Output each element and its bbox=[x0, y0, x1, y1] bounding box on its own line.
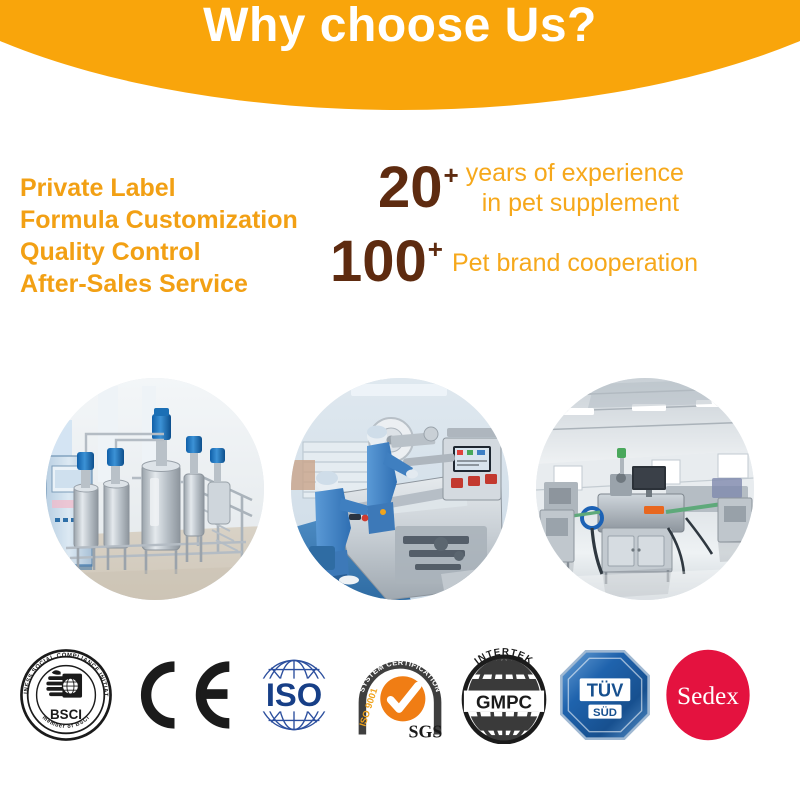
stat-caption: Pet brand cooperation bbox=[452, 248, 698, 278]
stat-number: 100 bbox=[330, 234, 427, 289]
why-choose-us-infographic: Why choose Us? Private Label Formula Cus… bbox=[0, 0, 800, 800]
stat-caption-line1: years of experience bbox=[466, 159, 684, 187]
stats-list: 20+ years of experience in pet supplemen… bbox=[330, 160, 800, 289]
cleanroom-workshop-photo bbox=[536, 378, 754, 600]
services-list: Private Label Formula Customization Qual… bbox=[20, 172, 370, 300]
tuv-sub-label: SÜD bbox=[593, 706, 617, 719]
service-item-quality-control: Quality Control bbox=[20, 236, 370, 268]
sgs-label: SGS bbox=[409, 721, 443, 741]
gmpc-label: GMPC bbox=[476, 691, 532, 712]
stat-plus-sign: + bbox=[428, 236, 443, 262]
stat-brand-cooperation: 100+ Pet brand cooperation bbox=[330, 234, 800, 289]
stat-caption-line1: Pet brand cooperation bbox=[452, 249, 698, 277]
facility-photo-gallery bbox=[0, 378, 800, 600]
gmpc-logo: INTERTEK GMPC bbox=[454, 643, 554, 747]
header-banner: Why choose Us? bbox=[0, 0, 800, 110]
ce-logo bbox=[124, 643, 242, 747]
bsci-logo: BUSINESS SOCIAL COMPLIANCE INITIATIVE me… bbox=[8, 643, 124, 747]
service-item-after-sales-service: After-Sales Service bbox=[20, 268, 370, 300]
highlights-section: Private Label Formula Customization Qual… bbox=[0, 150, 800, 340]
bsci-label: BSCI bbox=[50, 707, 82, 722]
stat-years-of-experience: 20+ years of experience in pet supplemen… bbox=[378, 160, 800, 218]
service-item-private-label: Private Label bbox=[20, 172, 370, 204]
fermentation-tanks-photo bbox=[46, 378, 264, 600]
stat-plus-sign: + bbox=[444, 162, 459, 188]
certification-logos: BUSINESS SOCIAL COMPLIANCE INITIATIVE me… bbox=[0, 640, 800, 750]
tuv-sud-logo: TÜV SÜD bbox=[554, 643, 656, 747]
iso-logo: ISO bbox=[242, 643, 346, 747]
stat-number-group: 100+ bbox=[330, 234, 443, 289]
page-title: Why choose Us? bbox=[0, 2, 800, 50]
service-item-formula-customization: Formula Customization bbox=[20, 204, 370, 236]
stat-caption-line2: in pet supplement bbox=[466, 188, 684, 218]
stat-number-group: 20+ bbox=[378, 160, 459, 215]
stat-number: 20 bbox=[378, 160, 443, 215]
packaging-line-photo bbox=[291, 378, 509, 600]
tuv-label: TÜV bbox=[587, 680, 624, 701]
stat-caption: years of experience in pet supplement bbox=[466, 158, 684, 218]
sedex-logo: Sedex bbox=[656, 643, 760, 747]
iso-label: ISO bbox=[266, 676, 322, 713]
sedex-label: Sedex bbox=[677, 682, 739, 710]
sgs-logo: SYSTEM CERTIFICATION ISO 9001 SGS bbox=[346, 643, 454, 747]
